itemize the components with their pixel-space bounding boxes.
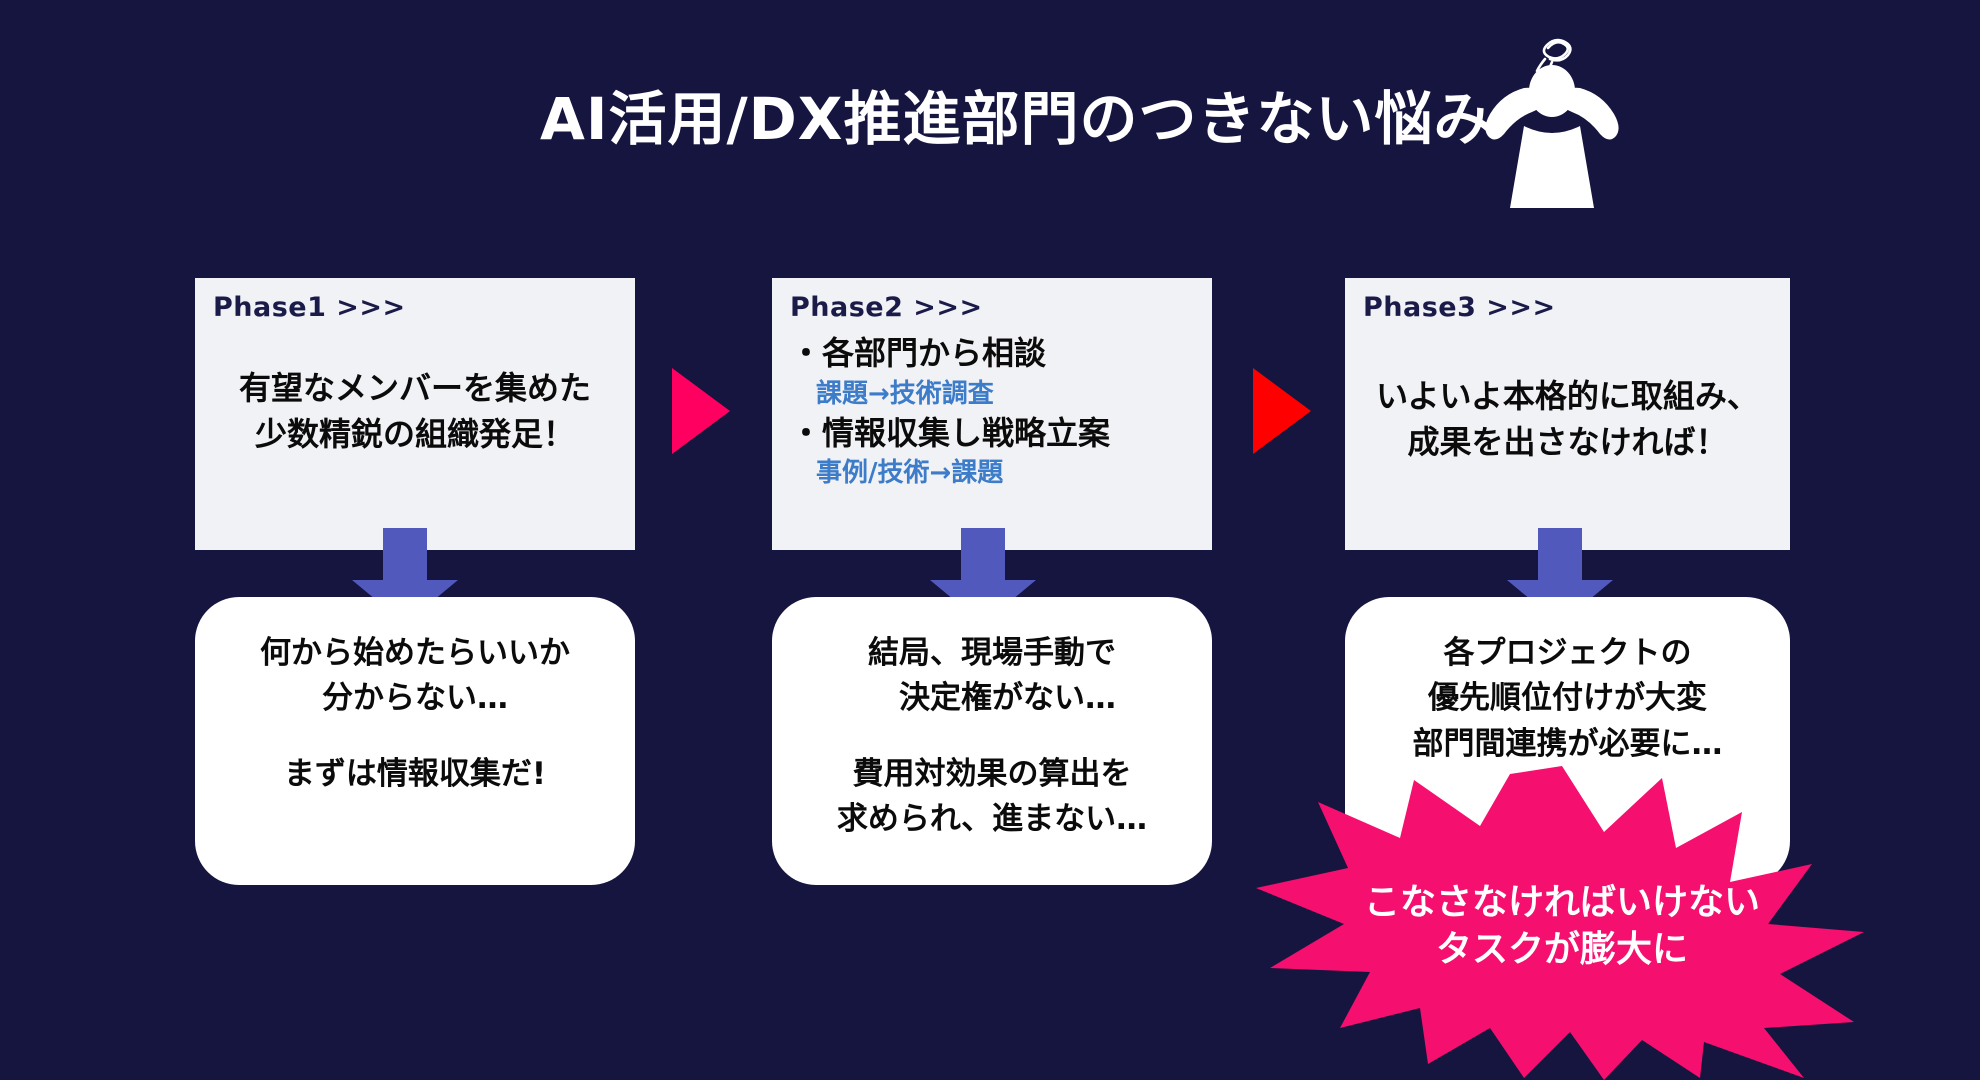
pain-text-2a: 結局、現場手動で 決定権がない… (798, 631, 1186, 722)
phase-card-1: Phase1 >>> 有望なメンバーを集めた 少数精鋭の組織発足！ (195, 278, 635, 550)
phase-label-1: Phase1 >>> (213, 292, 617, 324)
phase-bullet-sub-1: 課題→技術調査 (790, 376, 1194, 412)
phase-body-3: いよいよ本格的に取組み、 成果を出さなければ！ (1363, 374, 1772, 465)
pain-text-3a: 各プロジェクトの 優先順位付けが大変 部門間連携が必要に… (1371, 631, 1764, 767)
phase-bullet-sub-2: 事例/技術→課題 (790, 455, 1194, 491)
phase-bullet-main-2: ・情報収集し戦略立案 (790, 412, 1194, 455)
phase-bullet-main-1: ・各部門から相談 (790, 332, 1194, 375)
slide-canvas: AI活用/DX推進部門のつきない悩み (0, 0, 1980, 1080)
pain-text-1b: まずは情報収集だ! (221, 752, 609, 797)
triangle-right-icon-1 (672, 368, 730, 454)
phase-label-2: Phase2 >>> (790, 292, 1194, 324)
starburst-shape (1256, 766, 1864, 1080)
phase-body-1: 有望なメンバーを集めた 少数精鋭の組織発足！ (213, 366, 617, 457)
phase-card-3: Phase3 >>> いよいよ本格的に取組み、 成果を出さなければ！ (1345, 278, 1790, 550)
page-title: AI活用/DX推進部門のつきない悩み (540, 88, 1493, 152)
pain-card-2: 結局、現場手動で 決定権がない… 費用対効果の算出を 求められ、進まない… (772, 597, 1212, 885)
pain-text-2b: 費用対効果の算出を 求められ、進まない… (798, 752, 1186, 843)
phase-bullet-list-2: ・各部門から相談 課題→技術調査 ・情報収集し戦略立案 事例/技術→課題 (790, 332, 1194, 491)
frustrated-person-illustration (1452, 18, 1652, 208)
starburst-callout (1252, 760, 1872, 1080)
pain-spacer-2 (798, 722, 1186, 752)
pain-spacer-1 (221, 722, 609, 752)
phase-card-2: Phase2 >>> ・各部門から相談 課題→技術調査 ・情報収集し戦略立案 事… (772, 278, 1212, 550)
person-silhouette (1485, 65, 1618, 208)
phase-label-3: Phase3 >>> (1363, 292, 1772, 324)
pain-text-1a: 何から始めたらいいか 分からない… (221, 631, 609, 722)
triangle-right-icon-2 (1253, 368, 1311, 454)
pain-card-1: 何から始めたらいいか 分からない… まずは情報収集だ! (195, 597, 635, 885)
